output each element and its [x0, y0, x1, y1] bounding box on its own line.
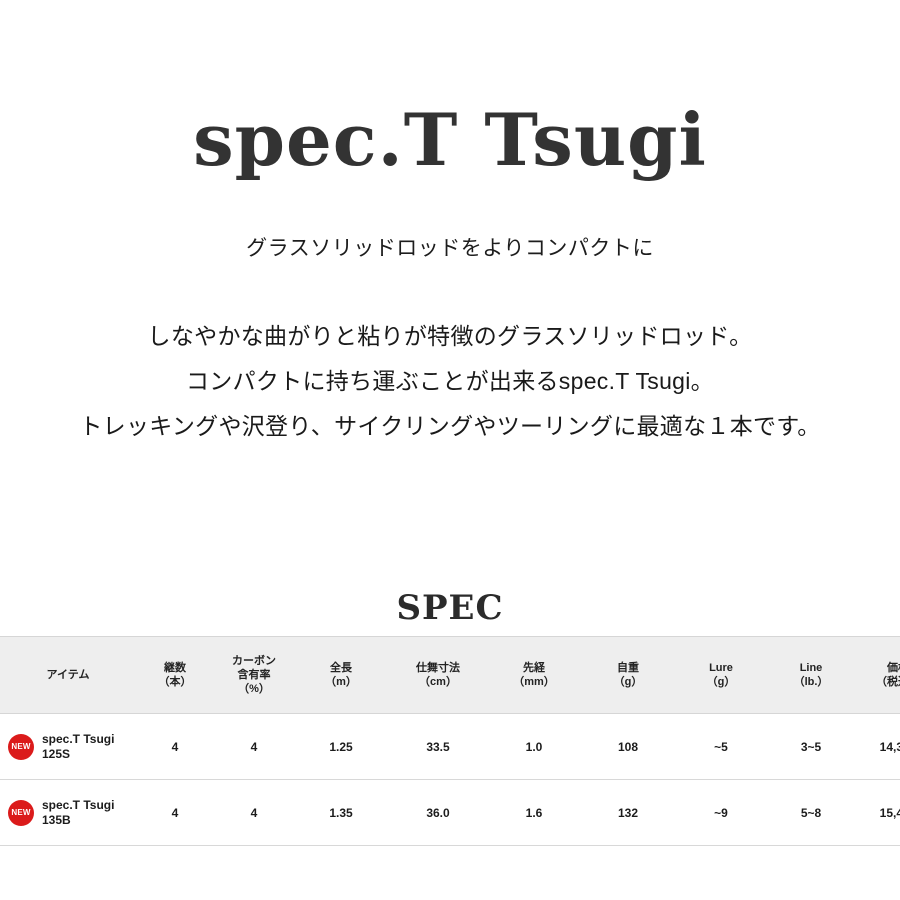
column-header-carbon-label: カーボン 含有率: [232, 655, 276, 681]
column-header-line-unit: （lb.）: [794, 676, 829, 688]
column-header-lure-unit: （g）: [707, 676, 736, 688]
cell-line: 5~8: [766, 780, 856, 846]
column-header-item-label: アイテム: [47, 669, 90, 681]
column-header-lure: Lure （g）: [676, 637, 766, 714]
table-row: NEW spec.T Tsugi 135B 4 4 1.35 36.0 1.6 …: [0, 780, 900, 846]
tagline: グラスソリッドロッドをよりコンパクトに: [0, 232, 900, 262]
column-header-folded-unit: （cm）: [419, 676, 457, 688]
item-name: spec.T Tsugi 135B: [42, 798, 114, 827]
spec-table-container: アイテム 継数 （本） カーボン 含有率 （%） 全長 （m）: [0, 636, 900, 846]
column-header-price: 価格 （税込）: [856, 637, 900, 714]
column-header-price-label: 価格: [887, 662, 900, 674]
column-header-line-label: Line: [800, 662, 823, 674]
cell-price: 14,300: [856, 714, 900, 780]
cell-folded: 33.5: [388, 714, 488, 780]
item-cell: NEW spec.T Tsugi 125S: [8, 732, 134, 761]
spec-table: アイテム 継数 （本） カーボン 含有率 （%） 全長 （m）: [0, 636, 900, 846]
cell-tip: 1.6: [488, 780, 580, 846]
column-header-weight-unit: （g）: [614, 676, 643, 688]
column-header-joints-unit: （本）: [159, 676, 192, 688]
description-line-2: コンパクトに持ち運ぶことが出来るspec.T Tsugi。: [0, 370, 900, 393]
new-badge-icon: NEW: [8, 734, 34, 760]
column-header-carbon: カーボン 含有率 （%）: [214, 637, 294, 714]
table-row: NEW spec.T Tsugi 125S 4 4 1.25 33.5 1.0 …: [0, 714, 900, 780]
column-header-joints-label: 継数: [164, 662, 186, 674]
description-line-3: トレッキングや沢登り、サイクリングやツーリングに最適な１本です。: [0, 415, 900, 438]
cell-carbon: 4: [214, 714, 294, 780]
cell-lure: ~9: [676, 780, 766, 846]
column-header-weight: 自重 （g）: [580, 637, 676, 714]
description-block: しなやかな曲がりと粘りが特徴のグラスソリッドロッド。 コンパクトに持ち運ぶことが…: [0, 325, 900, 438]
column-header-folded: 仕舞寸法 （cm）: [388, 637, 488, 714]
cell-lure: ~5: [676, 714, 766, 780]
column-header-line: Line （lb.）: [766, 637, 856, 714]
cell-weight: 108: [580, 714, 676, 780]
item-name: spec.T Tsugi 125S: [42, 732, 114, 761]
column-header-length-label: 全長: [330, 662, 352, 674]
column-header-length-unit: （m）: [325, 676, 357, 688]
column-header-length: 全長 （m）: [294, 637, 388, 714]
cell-item: NEW spec.T Tsugi 135B: [0, 780, 136, 846]
column-header-tip-unit: （mm）: [513, 676, 555, 688]
spec-table-body: NEW spec.T Tsugi 125S 4 4 1.25 33.5 1.0 …: [0, 714, 900, 846]
item-cell: NEW spec.T Tsugi 135B: [8, 798, 134, 827]
column-header-folded-label: 仕舞寸法: [416, 662, 460, 674]
cell-price: 15,400: [856, 780, 900, 846]
cell-weight: 132: [580, 780, 676, 846]
column-header-tip: 先経 （mm）: [488, 637, 580, 714]
column-header-carbon-unit: （%）: [238, 683, 270, 695]
cell-line: 3~5: [766, 714, 856, 780]
description-line-1: しなやかな曲がりと粘りが特徴のグラスソリッドロッド。: [0, 325, 900, 348]
column-header-joints: 継数 （本）: [136, 637, 214, 714]
column-header-price-unit: （税込）: [876, 676, 900, 688]
column-header-weight-label: 自重: [617, 662, 639, 674]
column-header-tip-label: 先経: [523, 662, 545, 674]
cell-item: NEW spec.T Tsugi 125S: [0, 714, 136, 780]
cell-length: 1.25: [294, 714, 388, 780]
column-header-lure-label: Lure: [709, 662, 733, 674]
product-page: spec.T Tsugi グラスソリッドロッドをよりコンパクトに しなやかな曲が…: [0, 0, 900, 900]
cell-folded: 36.0: [388, 780, 488, 846]
table-header-row: アイテム 継数 （本） カーボン 含有率 （%） 全長 （m）: [0, 637, 900, 714]
cell-joints: 4: [136, 780, 214, 846]
cell-tip: 1.0: [488, 714, 580, 780]
new-badge-icon: NEW: [8, 800, 34, 826]
cell-carbon: 4: [214, 780, 294, 846]
spec-table-header: アイテム 継数 （本） カーボン 含有率 （%） 全長 （m）: [0, 637, 900, 714]
column-header-item: アイテム: [0, 637, 136, 714]
cell-joints: 4: [136, 714, 214, 780]
spec-heading: SPEC: [0, 588, 900, 628]
cell-length: 1.35: [294, 780, 388, 846]
page-title: spec.T Tsugi: [0, 104, 900, 176]
